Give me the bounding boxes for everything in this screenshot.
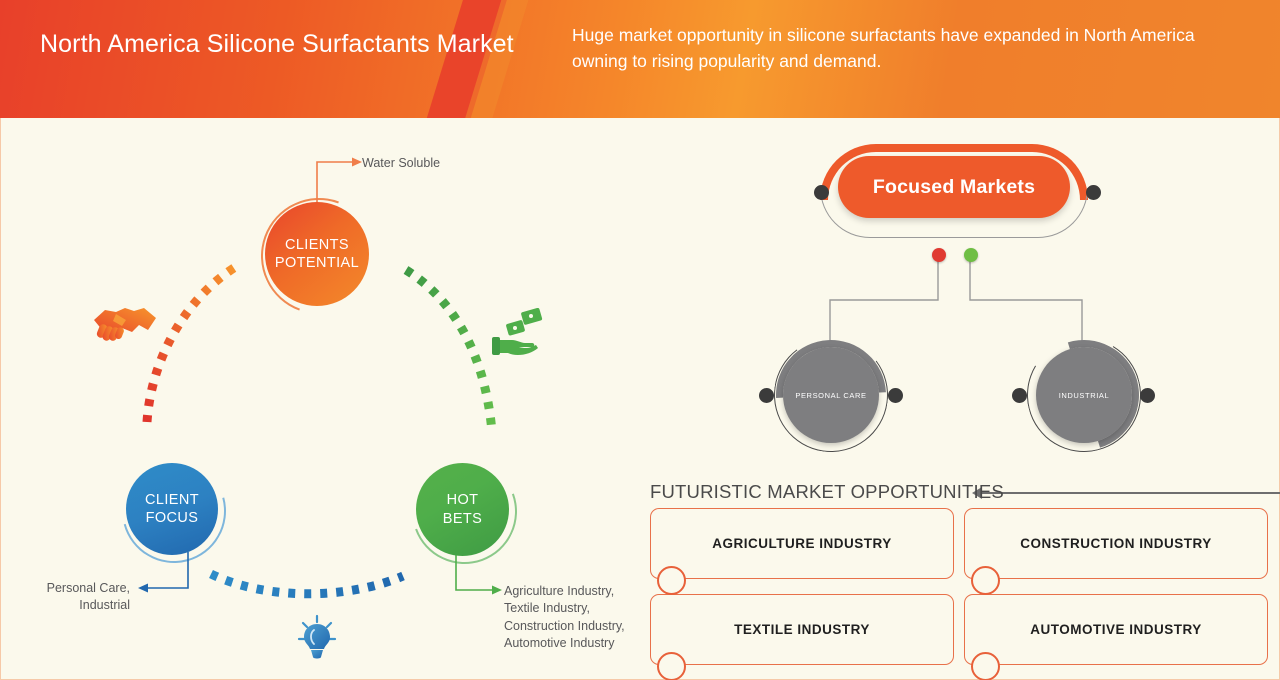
clients-potential-line2: POTENTIAL xyxy=(275,254,359,272)
market-box-automotive[interactable]: AUTOMOTIVE INDUSTRY xyxy=(964,594,1268,665)
market-circle-industrial[interactable]: INDUSTRIAL xyxy=(1036,347,1132,443)
hot-bets-line2: BETS xyxy=(443,510,482,528)
hot-bets-line1: HOT xyxy=(443,491,482,509)
market-box-construction[interactable]: CONSTRUCTION INDUSTRY xyxy=(964,508,1268,579)
page-title: North America Silicone Surfactants Marke… xyxy=(40,28,520,61)
market-box-textile-marker xyxy=(657,652,686,680)
personal-care-left-dot xyxy=(759,388,774,403)
futuristic-boxes-grid: AGRICULTURE INDUSTRY CONSTRUCTION INDUST… xyxy=(650,508,1280,673)
lightbulb-icon xyxy=(296,612,338,662)
header-banner: North America Silicone Surfactants Marke… xyxy=(0,0,1280,118)
market-box-textile[interactable]: TEXTILE INDUSTRY xyxy=(650,594,954,665)
clients-potential-node[interactable]: CLIENTS POTENTIAL xyxy=(265,202,369,306)
client-focus-line1: CLIENT xyxy=(145,491,199,509)
client-focus-node[interactable]: CLIENT FOCUS xyxy=(126,463,218,555)
focused-markets-right-dot xyxy=(1086,185,1101,200)
industrial-right-dot xyxy=(1140,388,1155,403)
focused-markets-title[interactable]: Focused Markets xyxy=(838,156,1070,218)
market-circle-personal-care[interactable]: PERSONAL CARE xyxy=(783,347,879,443)
red-status-dot xyxy=(932,248,946,262)
focused-markets-left-dot xyxy=(814,185,829,200)
infographic-canvas: North America Silicone Surfactants Marke… xyxy=(0,0,1280,680)
market-box-construction-marker xyxy=(971,566,1000,595)
futuristic-section-arrow xyxy=(972,482,1280,506)
handshake-icon xyxy=(92,298,158,348)
futuristic-section-title: FUTURISTIC MARKET OPPORTUNITIES xyxy=(650,481,1004,503)
hot-bets-connector xyxy=(452,552,510,598)
hot-bets-label: Agriculture Industry, Textile Industry, … xyxy=(504,583,664,652)
money-in-hand-icon xyxy=(492,308,546,360)
clients-potential-line1: CLIENTS xyxy=(275,236,359,254)
header-subtitle: Huge market opportunity in silicone surf… xyxy=(572,22,1232,75)
green-status-dot xyxy=(964,248,978,262)
industrial-left-dot xyxy=(1012,388,1027,403)
personal-care-right-dot xyxy=(888,388,903,403)
client-focus-label: Personal Care, Industrial xyxy=(8,580,130,615)
market-box-automotive-marker xyxy=(971,652,1000,680)
blue-dotted-arc xyxy=(205,560,410,600)
client-focus-line2: FOCUS xyxy=(145,509,199,527)
clients-potential-label: Water Soluble xyxy=(362,155,440,172)
hot-bets-node[interactable]: HOT BETS xyxy=(416,463,509,556)
market-box-agriculture[interactable]: AGRICULTURE INDUSTRY xyxy=(650,508,954,579)
focused-markets-group: Focused Markets xyxy=(808,144,1108,244)
client-focus-connector xyxy=(132,552,194,594)
